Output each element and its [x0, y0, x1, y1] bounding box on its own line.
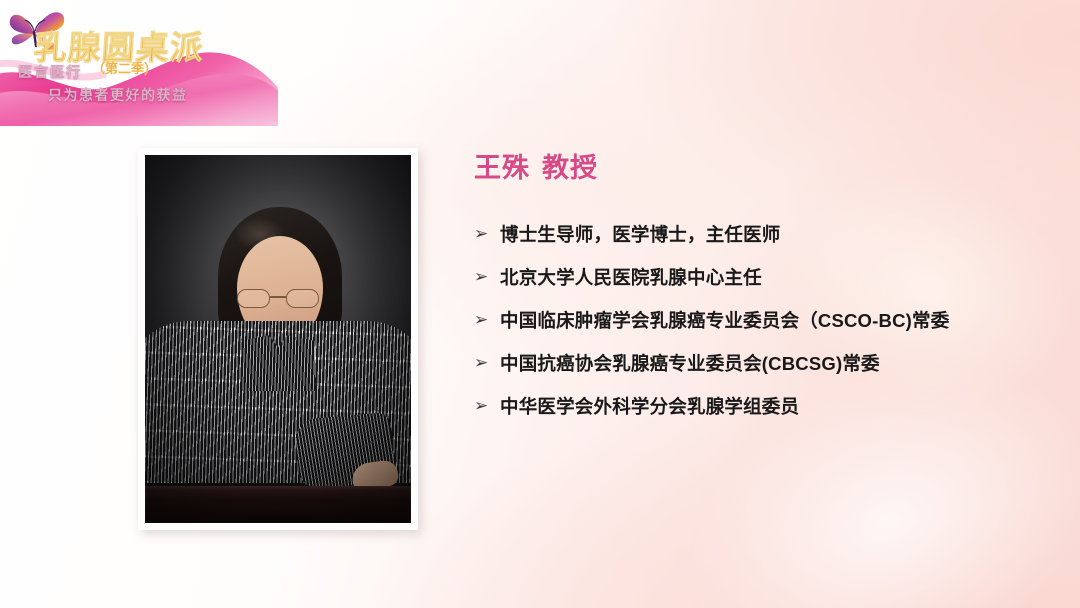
logo-tagline-line1: 医言医行 — [18, 62, 82, 82]
portrait-vignette — [145, 155, 411, 523]
speaker-name: 王殊 — [474, 153, 530, 183]
credential-text: 北京大学人民医院乳腺中心主任 — [500, 265, 762, 292]
speaker-name-heading: 王殊教授 — [474, 152, 1054, 184]
list-item: ➢ 北京大学人民医院乳腺中心主任 — [474, 265, 1054, 292]
list-item: ➢ 中华医学会外科学分会乳腺学组委员 — [474, 394, 1054, 421]
arrow-bullet-icon: ➢ — [474, 308, 500, 333]
speaker-title: 教授 — [542, 153, 598, 183]
presentation-slide: 乳腺圆桌派 （第二季） 医言医行 只为患者更好的获益 王殊教授 — [0, 0, 1080, 608]
credential-text: 博士生导师，医学博士，主任医师 — [500, 222, 781, 249]
list-item: ➢ 中国临床肿瘤学会乳腺癌专业委员会（CSCO-BC)常委 — [474, 308, 1054, 335]
arrow-bullet-icon: ➢ — [474, 394, 500, 419]
speaker-photo-frame — [138, 148, 418, 530]
program-logo: 乳腺圆桌派 （第二季） 医言医行 只为患者更好的获益 — [0, 0, 300, 125]
list-item: ➢ 博士生导师，医学博士，主任医师 — [474, 222, 1054, 249]
credential-text: 中国临床肿瘤学会乳腺癌专业委员会（CSCO-BC)常委 — [500, 308, 949, 335]
credential-text: 中国抗癌协会乳腺癌专业委员会(CBCSG)常委 — [500, 351, 880, 378]
arrow-bullet-icon: ➢ — [474, 222, 500, 247]
credential-text: 中华医学会外科学分会乳腺学组委员 — [500, 394, 799, 421]
arrow-bullet-icon: ➢ — [474, 265, 500, 290]
logo-tagline-line2: 只为患者更好的获益 — [48, 85, 188, 105]
arrow-bullet-icon: ➢ — [474, 351, 500, 376]
speaker-photo — [145, 155, 411, 523]
list-item: ➢ 中国抗癌协会乳腺癌专业委员会(CBCSG)常委 — [474, 351, 1054, 378]
logo-season: （第二季） — [92, 58, 157, 77]
speaker-info-panel: 王殊教授 ➢ 博士生导师，医学博士，主任医师 ➢ 北京大学人民医院乳腺中心主任 … — [474, 152, 1054, 436]
credentials-list: ➢ 博士生导师，医学博士，主任医师 ➢ 北京大学人民医院乳腺中心主任 ➢ 中国临… — [474, 222, 1054, 420]
